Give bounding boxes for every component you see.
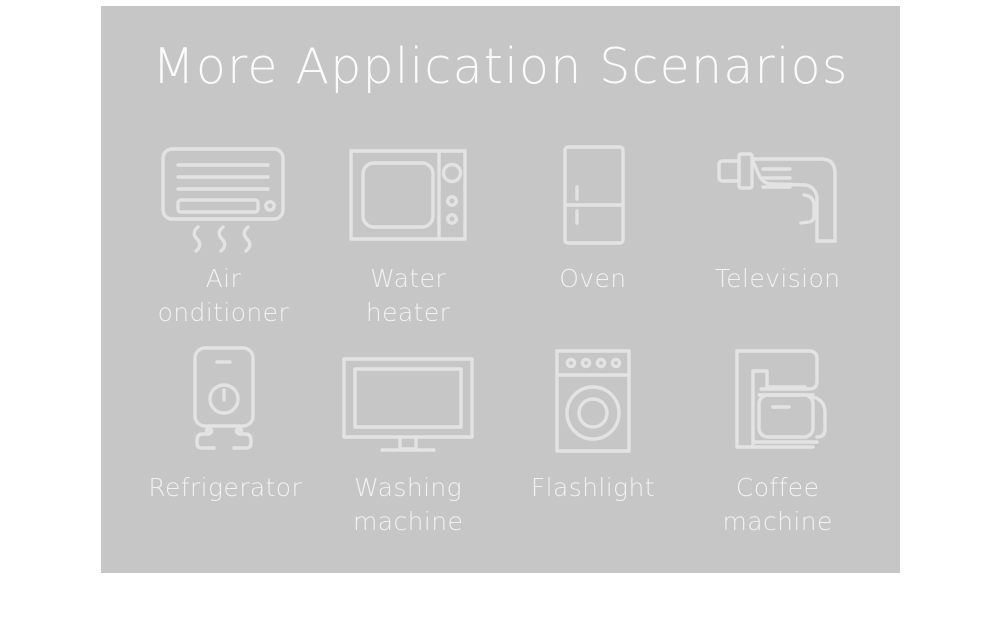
scenario-label-line1: Water (370, 264, 446, 293)
scenario-label-line2: machine (723, 507, 833, 536)
scenario-label-line1: Air (206, 264, 242, 293)
washing-machine-icon (513, 345, 673, 457)
scenario-label-line1: Refrigerator (148, 473, 302, 502)
scenario-label: Coffeemachine (723, 471, 833, 538)
scenario-label-line1: Washing (354, 473, 462, 502)
scenario-tile-television[interactable]: Television (685, 138, 870, 329)
page-root: More Application Scenarios (0, 0, 1000, 644)
scenario-label-line2: heater (366, 298, 450, 327)
scenario-label-line1: Flashlight (531, 473, 655, 502)
scenario-label-line2: onditioner (158, 298, 290, 327)
scenario-label: Washingmachine (353, 471, 463, 538)
scenario-label-line1: Oven (559, 264, 626, 293)
air-conditioner-icon (143, 138, 303, 248)
scenario-tile-oven[interactable]: Oven (501, 138, 686, 329)
scenario-tile-flashlight[interactable]: Flashlight (501, 345, 686, 538)
scenario-label-line2: machine (353, 507, 463, 536)
scenario-label: Aironditioner (158, 262, 290, 329)
refrigerator-icon (513, 138, 673, 248)
scenario-tile-water-heater[interactable]: Waterheater (316, 138, 501, 329)
power-drill-icon (698, 138, 858, 248)
scenario-label-line1: Coffee (736, 473, 820, 502)
microwave-icon (328, 138, 488, 248)
scenario-grid: Aironditioner Waterheater (131, 138, 870, 538)
scenario-label: Refrigerator (148, 471, 298, 505)
scenarios-banner: More Application Scenarios (101, 6, 900, 573)
coffee-machine-icon (698, 345, 858, 457)
scenario-label-line1: Television (715, 264, 841, 293)
scenario-label: Flashlight (531, 471, 655, 505)
scenario-label: Oven (559, 262, 626, 296)
water-heater-icon (143, 345, 303, 457)
scenario-tile-coffee-machine[interactable]: Coffeemachine (685, 345, 870, 538)
scenario-tile-refrigerator[interactable]: Refrigerator (131, 345, 316, 538)
page-title: More Application Scenarios (101, 40, 900, 94)
scenario-tile-air-conditioner[interactable]: Aironditioner (131, 138, 316, 329)
television-icon (328, 345, 488, 457)
scenario-label: Television (715, 262, 841, 296)
scenario-label: Waterheater (366, 262, 450, 329)
scenario-tile-washing-machine[interactable]: Washingmachine (316, 345, 501, 538)
